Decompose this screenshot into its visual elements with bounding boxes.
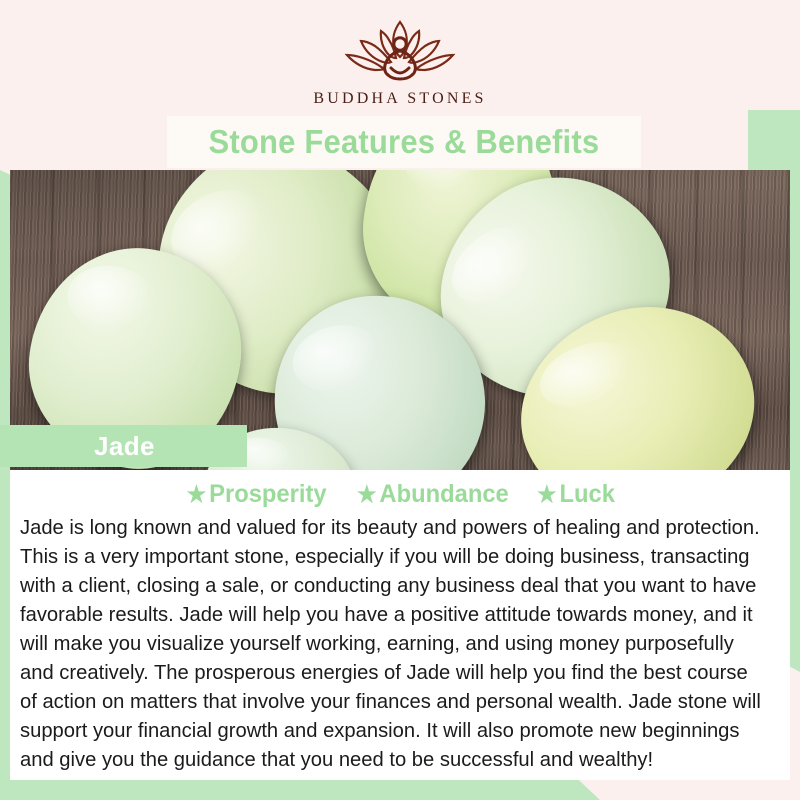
stone-description: Jade is long known and valued for its be…: [20, 513, 767, 774]
benefit-label: Luck: [559, 480, 614, 508]
brand-name: BUDDHA STONES: [0, 90, 800, 108]
content-panel: ★Prosperity ★Abundance ★Luck Jade is lon…: [10, 470, 790, 780]
benefit-item-abundance: ★Abundance: [357, 480, 509, 509]
stone-info-poster: BUDDHA STONES Stone Features & Benefits …: [0, 0, 800, 800]
benefit-item-luck: ★Luck: [537, 480, 615, 509]
star-icon: ★: [357, 481, 377, 507]
lotus-meditation-icon: [341, 18, 459, 84]
benefit-label: Prosperity: [209, 480, 326, 508]
stone-name-text: Jade: [94, 431, 155, 462]
brand-logo-block: BUDDHA STONES: [0, 18, 800, 108]
stone-name-label: Jade: [0, 425, 247, 467]
page-title: Stone Features & Benefits: [209, 123, 600, 161]
star-icon: ★: [537, 481, 557, 507]
star-icon: ★: [187, 481, 207, 507]
benefit-label: Abundance: [379, 480, 508, 508]
benefits-row: ★Prosperity ★Abundance ★Luck: [10, 470, 790, 509]
benefit-item-prosperity: ★Prosperity: [187, 480, 327, 509]
title-band: Stone Features & Benefits: [167, 116, 641, 168]
